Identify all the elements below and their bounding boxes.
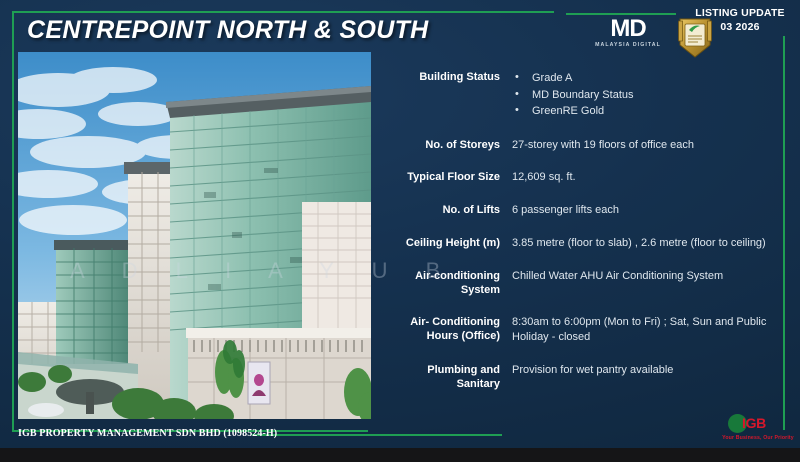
spec-label: Typical Floor Size xyxy=(386,170,512,184)
igb-logo: IGB Your Business, Our Priority xyxy=(722,412,794,448)
spec-label: Air-conditioning System xyxy=(386,269,512,297)
spec-value: Grade A MD Boundary Status GreenRE Gold xyxy=(512,70,784,120)
listing-update-badge: LISTING UPDATE 03 2026 xyxy=(686,6,794,34)
spec-label: Ceiling Height (m) xyxy=(386,236,512,250)
spec-value: 8:30am to 6:00pm (Mon to Fri) ; Sat, Sun… xyxy=(512,315,784,345)
spec-value: 27-storey with 19 floors of office each xyxy=(512,138,784,153)
spec-row-plumbing-and-sanitary: Plumbing and Sanitary Provision for wet … xyxy=(386,363,784,391)
md-malaysia-digital-logo: MD MALAYSIA DIGITAL xyxy=(592,17,664,48)
spec-value: 6 passenger lifts each xyxy=(512,203,784,218)
spec-row-no-of-storeys: No. of Storeys 27-storey with 19 floors … xyxy=(386,138,784,153)
spec-row-ceiling-height: Ceiling Height (m) 3.85 metre (floor to … xyxy=(386,236,784,251)
building-photo xyxy=(18,52,371,419)
list-item: GreenRE Gold xyxy=(512,103,784,120)
spec-label: Plumbing and Sanitary xyxy=(386,363,512,391)
spec-value: 3.85 metre (floor to slab) , 2.6 metre (… xyxy=(512,236,784,251)
footer-rule xyxy=(252,434,502,436)
listing-update-label: LISTING UPDATE xyxy=(686,6,794,20)
spec-value: Provision for wet pantry available xyxy=(512,363,784,378)
list-item: MD Boundary Status xyxy=(512,87,784,104)
spec-row-building-status: Building Status Grade A MD Boundary Stat… xyxy=(386,70,784,120)
spec-value: Chilled Water AHU Air Conditioning Syste… xyxy=(512,269,784,284)
igb-tagline: Your Business, Our Priority xyxy=(722,435,794,441)
md-logo-subtitle: MALAYSIA DIGITAL xyxy=(592,43,664,48)
slide-root: CENTREPOINT NORTH & SOUTH MD MALAYSIA DI… xyxy=(0,0,800,462)
igb-logo-mark: IGB xyxy=(742,415,766,431)
spec-value: 12,609 sq. ft. xyxy=(512,170,784,185)
spec-label: Air- Conditioning Hours (Office) xyxy=(386,315,512,343)
spec-row-no-of-lifts: No. of Lifts 6 passenger lifts each xyxy=(386,203,784,218)
spec-row-air-conditioning-system: Air-conditioning System Chilled Water AH… xyxy=(386,269,784,297)
spec-label: Building Status xyxy=(386,70,512,84)
bottom-strip xyxy=(0,448,800,462)
md-logo-mark: MD xyxy=(592,17,664,41)
spec-row-air-conditioning-hours: Air- Conditioning Hours (Office) 8:30am … xyxy=(386,315,784,345)
list-item: Grade A xyxy=(512,70,784,87)
listing-update-date: 03 2026 xyxy=(686,20,794,34)
frame-line-left xyxy=(12,11,14,431)
spec-label: No. of Storeys xyxy=(386,138,512,152)
spec-label: No. of Lifts xyxy=(386,203,512,217)
frame-line-top xyxy=(12,11,554,13)
page-title: CENTREPOINT NORTH & SOUTH xyxy=(27,16,429,45)
footer-company-name: IGB PROPERTY MANAGEMENT SDN BHD (1098524… xyxy=(18,428,277,439)
specifications-table: Building Status Grade A MD Boundary Stat… xyxy=(386,70,784,409)
spec-row-typical-floor-size: Typical Floor Size 12,609 sq. ft. xyxy=(386,170,784,185)
building-status-list: Grade A MD Boundary Status GreenRE Gold xyxy=(512,70,784,120)
